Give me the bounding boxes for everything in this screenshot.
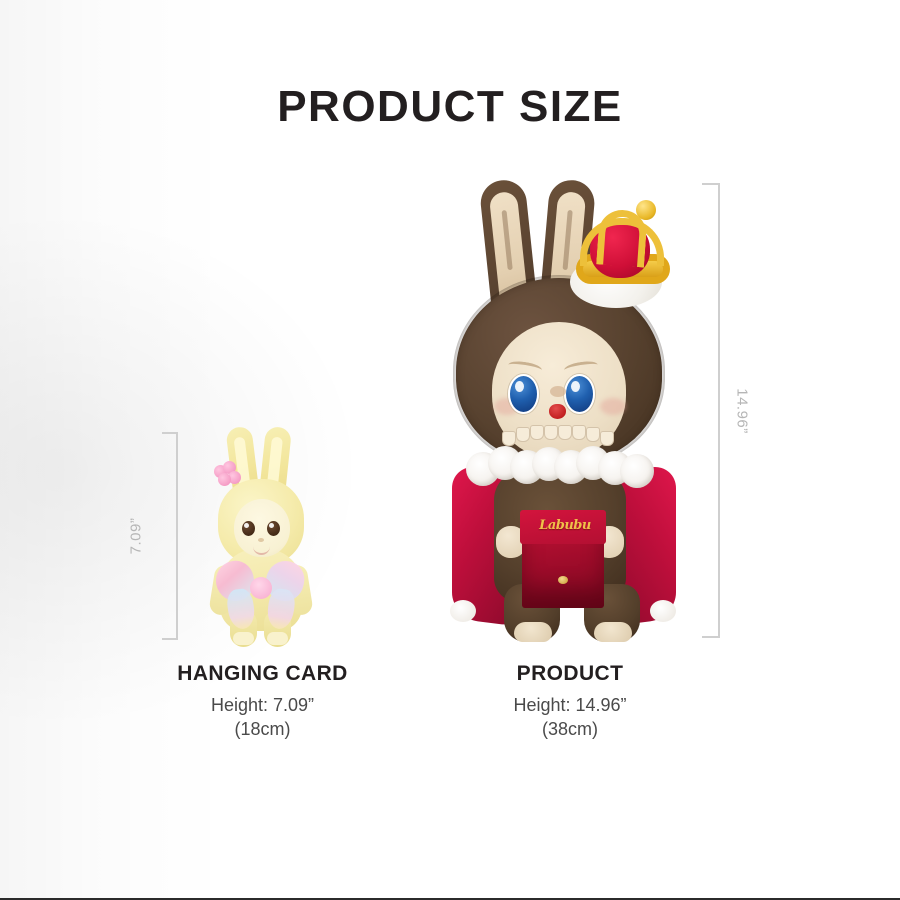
eye-left bbox=[242, 521, 255, 536]
eye-right bbox=[564, 374, 595, 414]
eye-left bbox=[508, 374, 539, 414]
tooth bbox=[586, 427, 600, 442]
caption-metric-product: (38cm) bbox=[460, 717, 680, 741]
caption-height-product: Height: 14.96” bbox=[460, 693, 680, 717]
watermark-text bbox=[2, 380, 28, 510]
dimension-bracket-hanging-card: 7.09” bbox=[142, 432, 178, 640]
figure-product: Labubu bbox=[442, 180, 704, 642]
collar-ruffle bbox=[620, 454, 654, 488]
tooth bbox=[502, 431, 516, 446]
dimension-bracket-product: 14.96” bbox=[702, 183, 738, 638]
flower-accessory-icon bbox=[214, 461, 242, 487]
caption-product: PRODUCT Height: 14.96” (38cm) bbox=[460, 662, 680, 742]
caption-title-hanging-card: HANGING CARD bbox=[155, 662, 370, 686]
tooth bbox=[572, 425, 586, 440]
gift-box-latch-icon bbox=[558, 576, 568, 584]
tooth bbox=[558, 425, 572, 440]
dimension-label-hanging-card: 7.09” bbox=[128, 518, 145, 555]
figure-hanging-card bbox=[196, 425, 324, 647]
gift-box-logo: Labubu bbox=[522, 518, 608, 533]
ruffle-collar bbox=[466, 446, 654, 488]
caption-height-hanging-card: Height: 7.09” bbox=[155, 693, 370, 717]
nose bbox=[258, 538, 264, 542]
cape-fur-tip-left bbox=[450, 600, 476, 622]
tooth bbox=[544, 425, 558, 440]
tooth bbox=[530, 425, 544, 440]
caption-metric-hanging-card: (18cm) bbox=[155, 717, 370, 741]
cheek-right bbox=[600, 398, 626, 415]
crown-icon bbox=[564, 198, 686, 314]
cape-fur-tip-right bbox=[650, 600, 676, 622]
eye-right bbox=[267, 521, 280, 536]
nose bbox=[550, 386, 566, 397]
page-title: PRODUCT SIZE bbox=[0, 82, 900, 132]
dimension-label-product: 14.96” bbox=[734, 388, 751, 434]
rainbow-bow-icon bbox=[216, 557, 306, 631]
tooth bbox=[516, 427, 530, 442]
product-size-image: PRODUCT SIZE bbox=[0, 0, 900, 900]
caption-title-product: PRODUCT bbox=[460, 662, 680, 686]
caption-hanging-card: HANGING CARD Height: 7.09” (18cm) bbox=[155, 662, 370, 742]
mouth bbox=[549, 404, 566, 419]
gift-box: Labubu bbox=[522, 512, 604, 608]
tooth bbox=[600, 431, 614, 446]
